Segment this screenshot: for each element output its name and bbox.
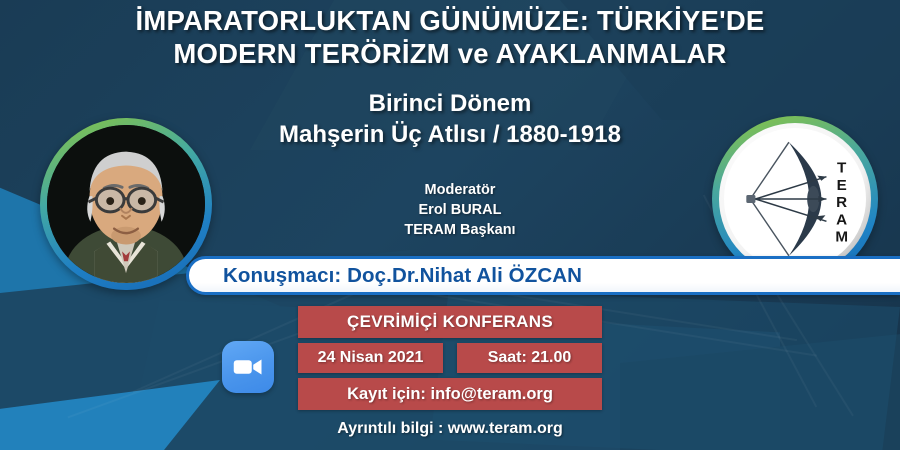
info-row-registration: Kayıt için: info@teram.org [0, 378, 900, 410]
moderator-block: Moderatör Erol BURAL TERAM Başkanı [255, 180, 665, 240]
moderator-role-label: Moderatör [255, 180, 665, 200]
bow-and-arrow-icon: T E R A M [724, 128, 866, 270]
speaker-name: Konuşmacı: Doç.Dr.Nihat Ali ÖZCAN [189, 264, 582, 288]
moderator-name: Erol BURAL [255, 200, 665, 220]
info-row-datetime: 24 Nisan 2021 Saat: 21.00 [0, 343, 900, 373]
logo-letter-e: E [837, 177, 847, 194]
logo-face: T E R A M [724, 128, 866, 270]
page-title: İMPARATORLUKTAN GÜNÜMÜZE: TÜRKİYE'DE MOD… [0, 4, 900, 70]
speaker-banner: Konuşmacı: Doç.Dr.Nihat Ali ÖZCAN [186, 256, 900, 295]
subtitle-line-1: Birinci Dönem [0, 88, 900, 119]
logo-letter-m: M [835, 229, 848, 246]
portrait-illustration [47, 125, 205, 283]
logo-letter-r: R [836, 194, 847, 211]
registration-badge[interactable]: Kayıt için: info@teram.org [298, 378, 602, 410]
speaker-portrait [47, 125, 205, 283]
title-line-2: MODERN TERÖRİZM ve AYAKLANMALAR [0, 37, 900, 70]
conference-type-badge: ÇEVRİMİÇİ KONFERANS [298, 306, 602, 338]
info-row-conference: ÇEVRİMİÇİ KONFERANS [0, 306, 900, 338]
info-boxes: ÇEVRİMİÇİ KONFERANS 24 Nisan 2021 Saat: … [0, 306, 900, 415]
title-line-1: İMPARATORLUKTAN GÜNÜMÜZE: TÜRKİYE'DE [0, 4, 900, 37]
logo-letter-a: A [836, 211, 847, 228]
avatar [40, 118, 212, 290]
logo-ring: T E R A M [719, 123, 871, 275]
zoom-video-icon[interactable] [222, 341, 274, 393]
date-badge: 24 Nisan 2021 [298, 343, 443, 373]
footer-website[interactable]: Ayrıntılı bilgi : www.teram.org [0, 420, 900, 438]
logo-letter-t: T [837, 160, 847, 177]
conference-poster: İMPARATORLUKTAN GÜNÜMÜZE: TÜRKİYE'DE MOD… [0, 0, 900, 450]
video-camera-glyph [233, 357, 263, 377]
moderator-title: TERAM Başkanı [255, 220, 665, 240]
time-badge: Saat: 21.00 [457, 343, 602, 373]
